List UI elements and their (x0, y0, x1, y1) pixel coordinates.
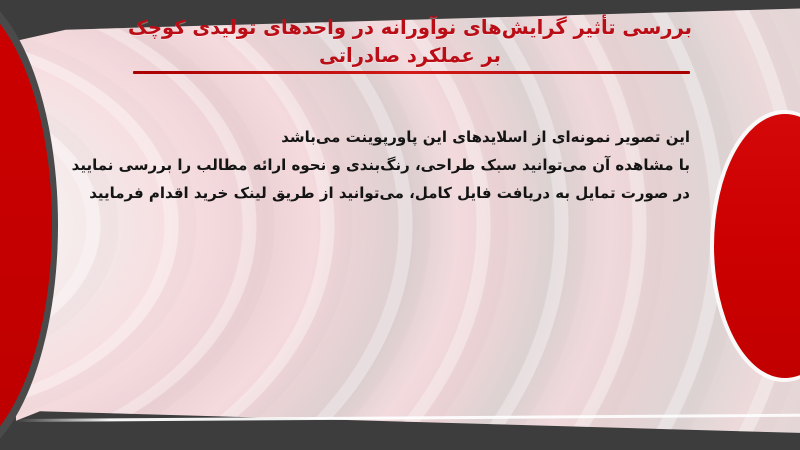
body-line-2: با مشاهده آن می‌توانید سبک طراحی، رنگ‌بن… (120, 152, 690, 180)
presentation-slide: بررسی تأثیر گرایش‌های نوآورانه در واحدها… (0, 0, 800, 450)
body-line-1: این تصویر نمونه‌ای از اسلایدهای این پاور… (120, 124, 690, 152)
slide-title: بررسی تأثیر گرایش‌های نوآورانه در واحدها… (120, 14, 700, 69)
title-divider-rule (133, 71, 690, 74)
body-line-3: در صورت تمایل به دریافت فایل کامل، می‌تو… (120, 180, 690, 208)
title-block: بررسی تأثیر گرایش‌های نوآورانه در واحدها… (120, 14, 700, 69)
body-text-block: این تصویر نمونه‌ای از اسلایدهای این پاور… (120, 124, 690, 207)
slide-content: بررسی تأثیر گرایش‌های نوآورانه در واحدها… (0, 0, 800, 450)
